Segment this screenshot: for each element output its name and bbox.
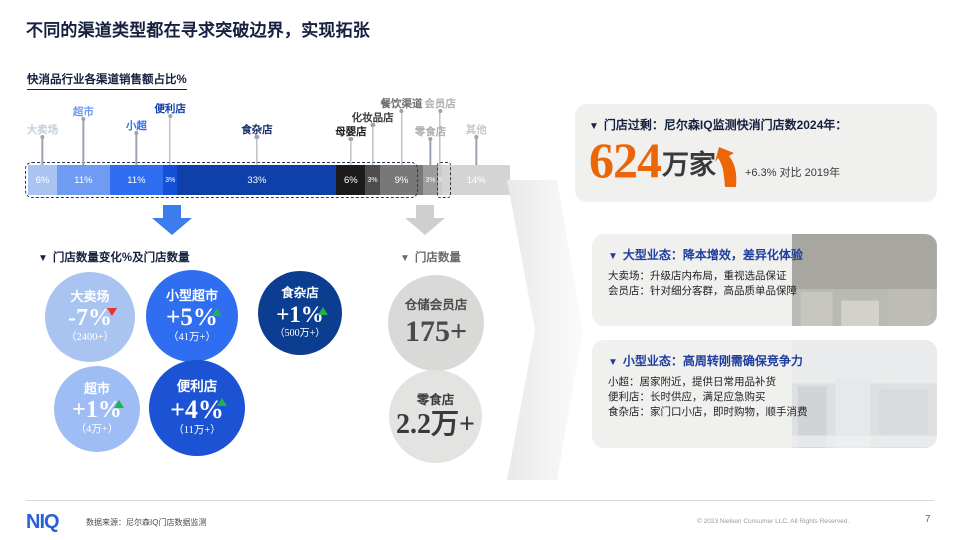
insight-card-large-format: ▼大型业态：降本增效，差异化体验 大卖场：升级店内布局，重视选品保证 会员店：针…	[592, 234, 937, 326]
triangle-icon: ▼	[608, 357, 618, 368]
insight-card-title-label: 小型业态：高周转刚需确保竞争力	[623, 354, 803, 368]
bubble-name: 仓储会员店	[405, 299, 468, 312]
section-header-label: 门店数量变化%及门店数量	[53, 252, 190, 264]
bubble-便利店: 便利店+4%（11万+）	[149, 360, 245, 456]
bubble-name: 超市	[84, 382, 110, 395]
bar-segment-value: 3%	[165, 177, 175, 184]
bubble-value: +1%	[276, 303, 324, 326]
bubble-value: 2.2万+	[396, 411, 475, 439]
up-arrow-icon	[715, 147, 741, 187]
insight-card-line: 会员店：针对细分客群，高品质单品保障	[608, 284, 937, 299]
insight-card-title: ▼大型业态：降本增效，差异化体验	[608, 246, 937, 263]
insight-card-title: ▼小型业态：高周转刚需确保竞争力	[608, 352, 937, 369]
insight-card-line: 食杂店：家门口小店，即时购物，顺手消费	[608, 405, 937, 420]
source-note: 数据来源：尼尔森IQ门店数据监测	[86, 517, 206, 528]
triangle-icon: ▼	[608, 251, 618, 262]
stacked-bar-track: 6%11%11%3%33%6%3%9%3%1%14%	[28, 165, 510, 195]
triangle-icon: ▼	[38, 253, 48, 264]
insight-card-line: 小超：居家附近，提供日常用品补货	[608, 375, 937, 390]
insight-card-line: 便利店：长时供应，满足应急购买	[608, 390, 937, 405]
bubble-name: 便利店	[177, 380, 218, 394]
bar-segment-value: 6%	[344, 175, 358, 186]
bar-segment-value: 3%	[368, 177, 378, 184]
bar-segment-value: 11%	[127, 175, 145, 186]
bar-segment-value: 9%	[395, 175, 409, 186]
bar-segment-value: 33%	[247, 175, 266, 186]
bar-segment-便利店: 3%	[163, 165, 177, 195]
leader-line	[439, 111, 440, 165]
leader-line	[83, 119, 84, 165]
bubble-value: +5%	[166, 305, 218, 330]
bubble-name: 大卖场	[70, 290, 109, 303]
bar-segment-value: 6%	[36, 175, 50, 186]
trend-up-icon	[318, 307, 328, 315]
bubble-value: 175+	[405, 317, 467, 347]
chart-subtitle: 快消品行业各渠道销售额占比%	[27, 71, 187, 90]
bar-segment-value: 11%	[74, 175, 92, 186]
page-number: 7	[925, 514, 931, 525]
section-header-store-count: ▼门店数量	[400, 249, 461, 265]
bar-segment-母婴店: 6%	[336, 165, 365, 195]
bubble-name: 食杂店	[281, 287, 319, 300]
trend-up-icon	[217, 398, 227, 406]
bubble-name: 零食店	[417, 394, 455, 407]
bar-segment-食杂店: 33%	[177, 165, 336, 195]
bubble-subvalue: （500万+）	[275, 329, 326, 339]
kpi-title-label: 门店过剩：尼尔森IQ监测快消门店数2024年：	[604, 118, 847, 132]
trend-down-icon	[107, 308, 117, 316]
kpi-unit: 万家	[662, 143, 716, 182]
bubble-零食店: 零食店2.2万+	[389, 370, 482, 463]
leader-line	[170, 116, 171, 165]
leader-line	[401, 111, 402, 165]
bar-segment-餐饮渠道: 9%	[380, 165, 423, 195]
bubble-食杂店: 食杂店+1%（500万+）	[258, 271, 342, 355]
bubble-仓储会员店: 仓储会员店175+	[388, 275, 484, 371]
bubble-subvalue: （11万+）	[173, 426, 221, 437]
bubble-超市: 超市+1%（4万+）	[54, 366, 140, 452]
insight-card-line: 大卖场：升级店内布局，重视选品保证	[608, 269, 937, 284]
section-header-store-change: ▼门店数量变化%及门店数量	[38, 249, 190, 265]
bar-segment-value: 14%	[467, 175, 486, 186]
down-arrow-grey	[405, 205, 445, 235]
leader-line	[136, 133, 137, 165]
bar-segment-化妆品店: 3%	[365, 165, 379, 195]
bubble-subvalue: （2400+）	[66, 333, 114, 344]
bubble-name: 小型超市	[166, 289, 218, 302]
bar-segment-超市: 11%	[57, 165, 110, 195]
niq-logo: NIQ	[26, 511, 59, 534]
bar-segment-小超: 11%	[110, 165, 163, 195]
leader-line	[430, 139, 431, 165]
bubble-subvalue: （4万+）	[76, 425, 119, 436]
leader-line	[350, 139, 351, 165]
bubble-subvalue: （41万+）	[168, 333, 216, 344]
bubble-value: +4%	[170, 397, 224, 423]
flow-connector-arrow	[505, 180, 585, 480]
kpi-card: ▼门店过剩：尼尔森IQ监测快消门店数2024年： 624 万家 +6.3% 对比…	[575, 104, 937, 202]
bubble-大卖场: 大卖场-7%（2400+）	[45, 272, 135, 362]
leader-line	[372, 125, 373, 165]
trend-up-icon	[212, 308, 222, 316]
insight-card-small-format: ▼小型业态：高周转刚需确保竞争力 小超：居家附近，提供日常用品补货 便利店：长时…	[592, 340, 937, 448]
bar-segment-大卖场: 6%	[28, 165, 57, 195]
bar-segment-零食店: 3%	[423, 165, 437, 195]
leader-line	[256, 137, 257, 165]
copyright-notice: © 2023 Nielsen Consumer LLC. All Rights …	[697, 518, 849, 525]
insight-card-title-label: 大型业态：降本增效，差异化体验	[623, 248, 803, 262]
leader-line	[42, 137, 43, 165]
bar-segment-其他: 14%	[442, 165, 509, 195]
bubble-小型超市: 小型超市+5%（41万+）	[146, 270, 238, 362]
footer-divider	[26, 500, 934, 501]
page-title: 不同的渠道类型都在寻求突破边界，实现拓张	[26, 16, 370, 41]
section-header-label: 门店数量	[415, 252, 461, 264]
down-arrow-blue	[152, 205, 192, 235]
kpi-number: 624	[589, 131, 661, 189]
trend-up-icon	[114, 400, 124, 408]
bar-segment-value: 3%	[425, 177, 435, 184]
kpi-delta: +6.3% 对比 2019年	[745, 164, 840, 180]
bubble-value: -7%	[68, 306, 112, 330]
leader-line	[476, 137, 477, 165]
stacked-bar-chart: 6%11%11%3%33%6%3%9%3%1%14% 大卖场超市小超便利店食杂店…	[28, 96, 510, 200]
triangle-icon: ▼	[400, 253, 410, 264]
